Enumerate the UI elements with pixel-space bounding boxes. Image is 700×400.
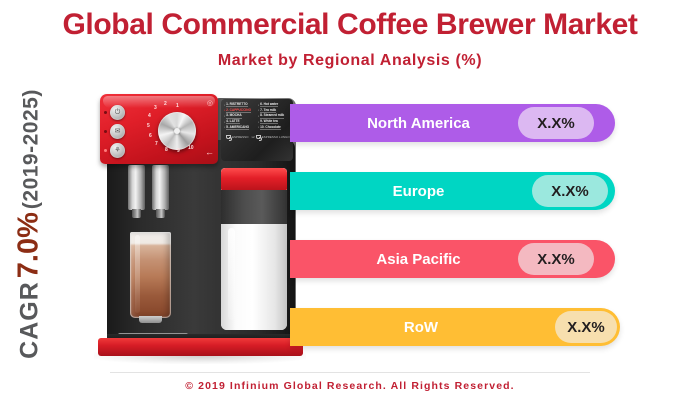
display-menu-item[interactable]: ▪6. Hot water [258, 103, 290, 107]
dial-number-6: 6 [149, 134, 152, 139]
cagr-value: 7.0% [13, 212, 46, 278]
bar-label-row: RoW [404, 319, 438, 336]
bar-label-europe: Europe [393, 183, 445, 200]
page-subtitle: Market by Regional Analysis (%) [0, 52, 700, 70]
indicator-led-2 [104, 130, 107, 133]
bar-value-row: X.X% [555, 311, 617, 343]
infographic-poster: Global Commercial Coffee Brewer Market M… [0, 0, 700, 400]
control-head: ⏻ ✉ ⚘ 1 2 3 4 5 6 7 8 9 10 ◎ ← [100, 94, 218, 164]
spout-tip-right [156, 209, 165, 218]
dial-number-7: 7 [155, 142, 158, 147]
milk-highlight [228, 228, 235, 320]
glass-drip-tray [139, 316, 162, 323]
power-button[interactable]: ⏻ [110, 105, 125, 120]
coffee-cup-icon [256, 135, 261, 139]
display-menu-item[interactable]: ▪5. AMERICANO [224, 126, 256, 130]
machine-display-screen[interactable]: ▪1. RISTRETTO ▪2. CAPPUCCINO ▪3. MOCHA ▪… [221, 99, 293, 161]
glass-highlight [135, 235, 140, 313]
display-menu-item[interactable]: ▪4. LATTE [224, 120, 256, 124]
copyright-footer: © 2019 Infinium Global Research. All Rig… [0, 380, 700, 392]
display-menu-item[interactable]: ▪10. Chocolate [258, 126, 290, 130]
espresso-lungo-shortcut[interactable]: x2 ESPRESSO LUNGO [252, 135, 290, 139]
footer-divider [110, 372, 590, 373]
arrow-left-icon: ← [205, 148, 214, 157]
bar-label-asia-pacific: Asia Pacific [376, 251, 460, 268]
milk-container-lid [221, 168, 287, 190]
dial-number-2: 2 [164, 102, 167, 107]
dial-number-9: 9 [177, 149, 180, 154]
cagr-period: (2019-2025) [20, 89, 44, 209]
dial-number-4: 4 [148, 114, 151, 119]
bar-value-asia-pacific: X.X% [518, 243, 594, 275]
coffee-machine-illustration: ⏻ ✉ ⚘ 1 2 3 4 5 6 7 8 9 10 ◎ ← ▪1. RISTR… [88, 92, 313, 364]
brew-button[interactable]: ✉ [110, 124, 125, 139]
bar-label-north-america: North America [367, 115, 470, 132]
regional-bar-chart: North America X.X% Europe X.X% Asia Paci… [290, 104, 700, 360]
display-menu-item[interactable]: ▪7. Tea milk [258, 109, 290, 113]
spout-tip-left [132, 209, 141, 218]
indicator-led-1 [104, 111, 107, 114]
display-menu-right: ▪6. Hot water ▪7. Tea milk ▪8. Steamed m… [258, 103, 290, 130]
dispenser-spout-left [128, 165, 145, 210]
machine-base [98, 338, 303, 356]
dial-center-cap [174, 128, 180, 134]
settings-button[interactable]: ⚘ [110, 143, 125, 158]
cagr-label: CAGR 7.0% (2019-2025) [6, 88, 52, 360]
cagr-prefix: CAGR [16, 281, 45, 359]
dial-number-1: 1 [176, 104, 179, 109]
display-menu-item[interactable]: ▪3. MOCHA [224, 114, 256, 118]
page-title: Global Commercial Coffee Brewer Market [0, 8, 700, 42]
display-menu-left: ▪1. RISTRETTO ▪2. CAPPUCCINO ▪3. MOCHA ▪… [224, 103, 256, 130]
display-menu-item[interactable]: ▪1. RISTRETTO [224, 103, 256, 107]
dial-number-10: 10 [188, 146, 194, 151]
wifi-icon: ◎ [207, 99, 213, 107]
dispenser-spout-right [152, 165, 169, 210]
milk-container-band [221, 190, 287, 224]
dial-number-8: 8 [165, 148, 168, 153]
dial-number-3: 3 [154, 106, 157, 111]
latte-glass [130, 232, 171, 318]
milk-container [221, 168, 287, 330]
display-menu-item-selected[interactable]: ▪2. CAPPUCCINO [224, 109, 256, 113]
display-menu-item[interactable]: ▪8. Steamed milk [258, 114, 290, 118]
bar-value-europe: X.X% [532, 175, 608, 207]
coffee-cup-icon [226, 135, 231, 139]
espresso-shortcut[interactable]: ESPRESSO [226, 135, 249, 139]
display-shortcut-row: ESPRESSO x2 ESPRESSO LUNGO [224, 135, 290, 139]
indicator-led-3 [104, 149, 107, 152]
dial-number-5: 5 [147, 124, 150, 129]
display-menu-item[interactable]: ▪9. White tea [258, 120, 290, 124]
bar-value-north-america: X.X% [518, 107, 594, 139]
